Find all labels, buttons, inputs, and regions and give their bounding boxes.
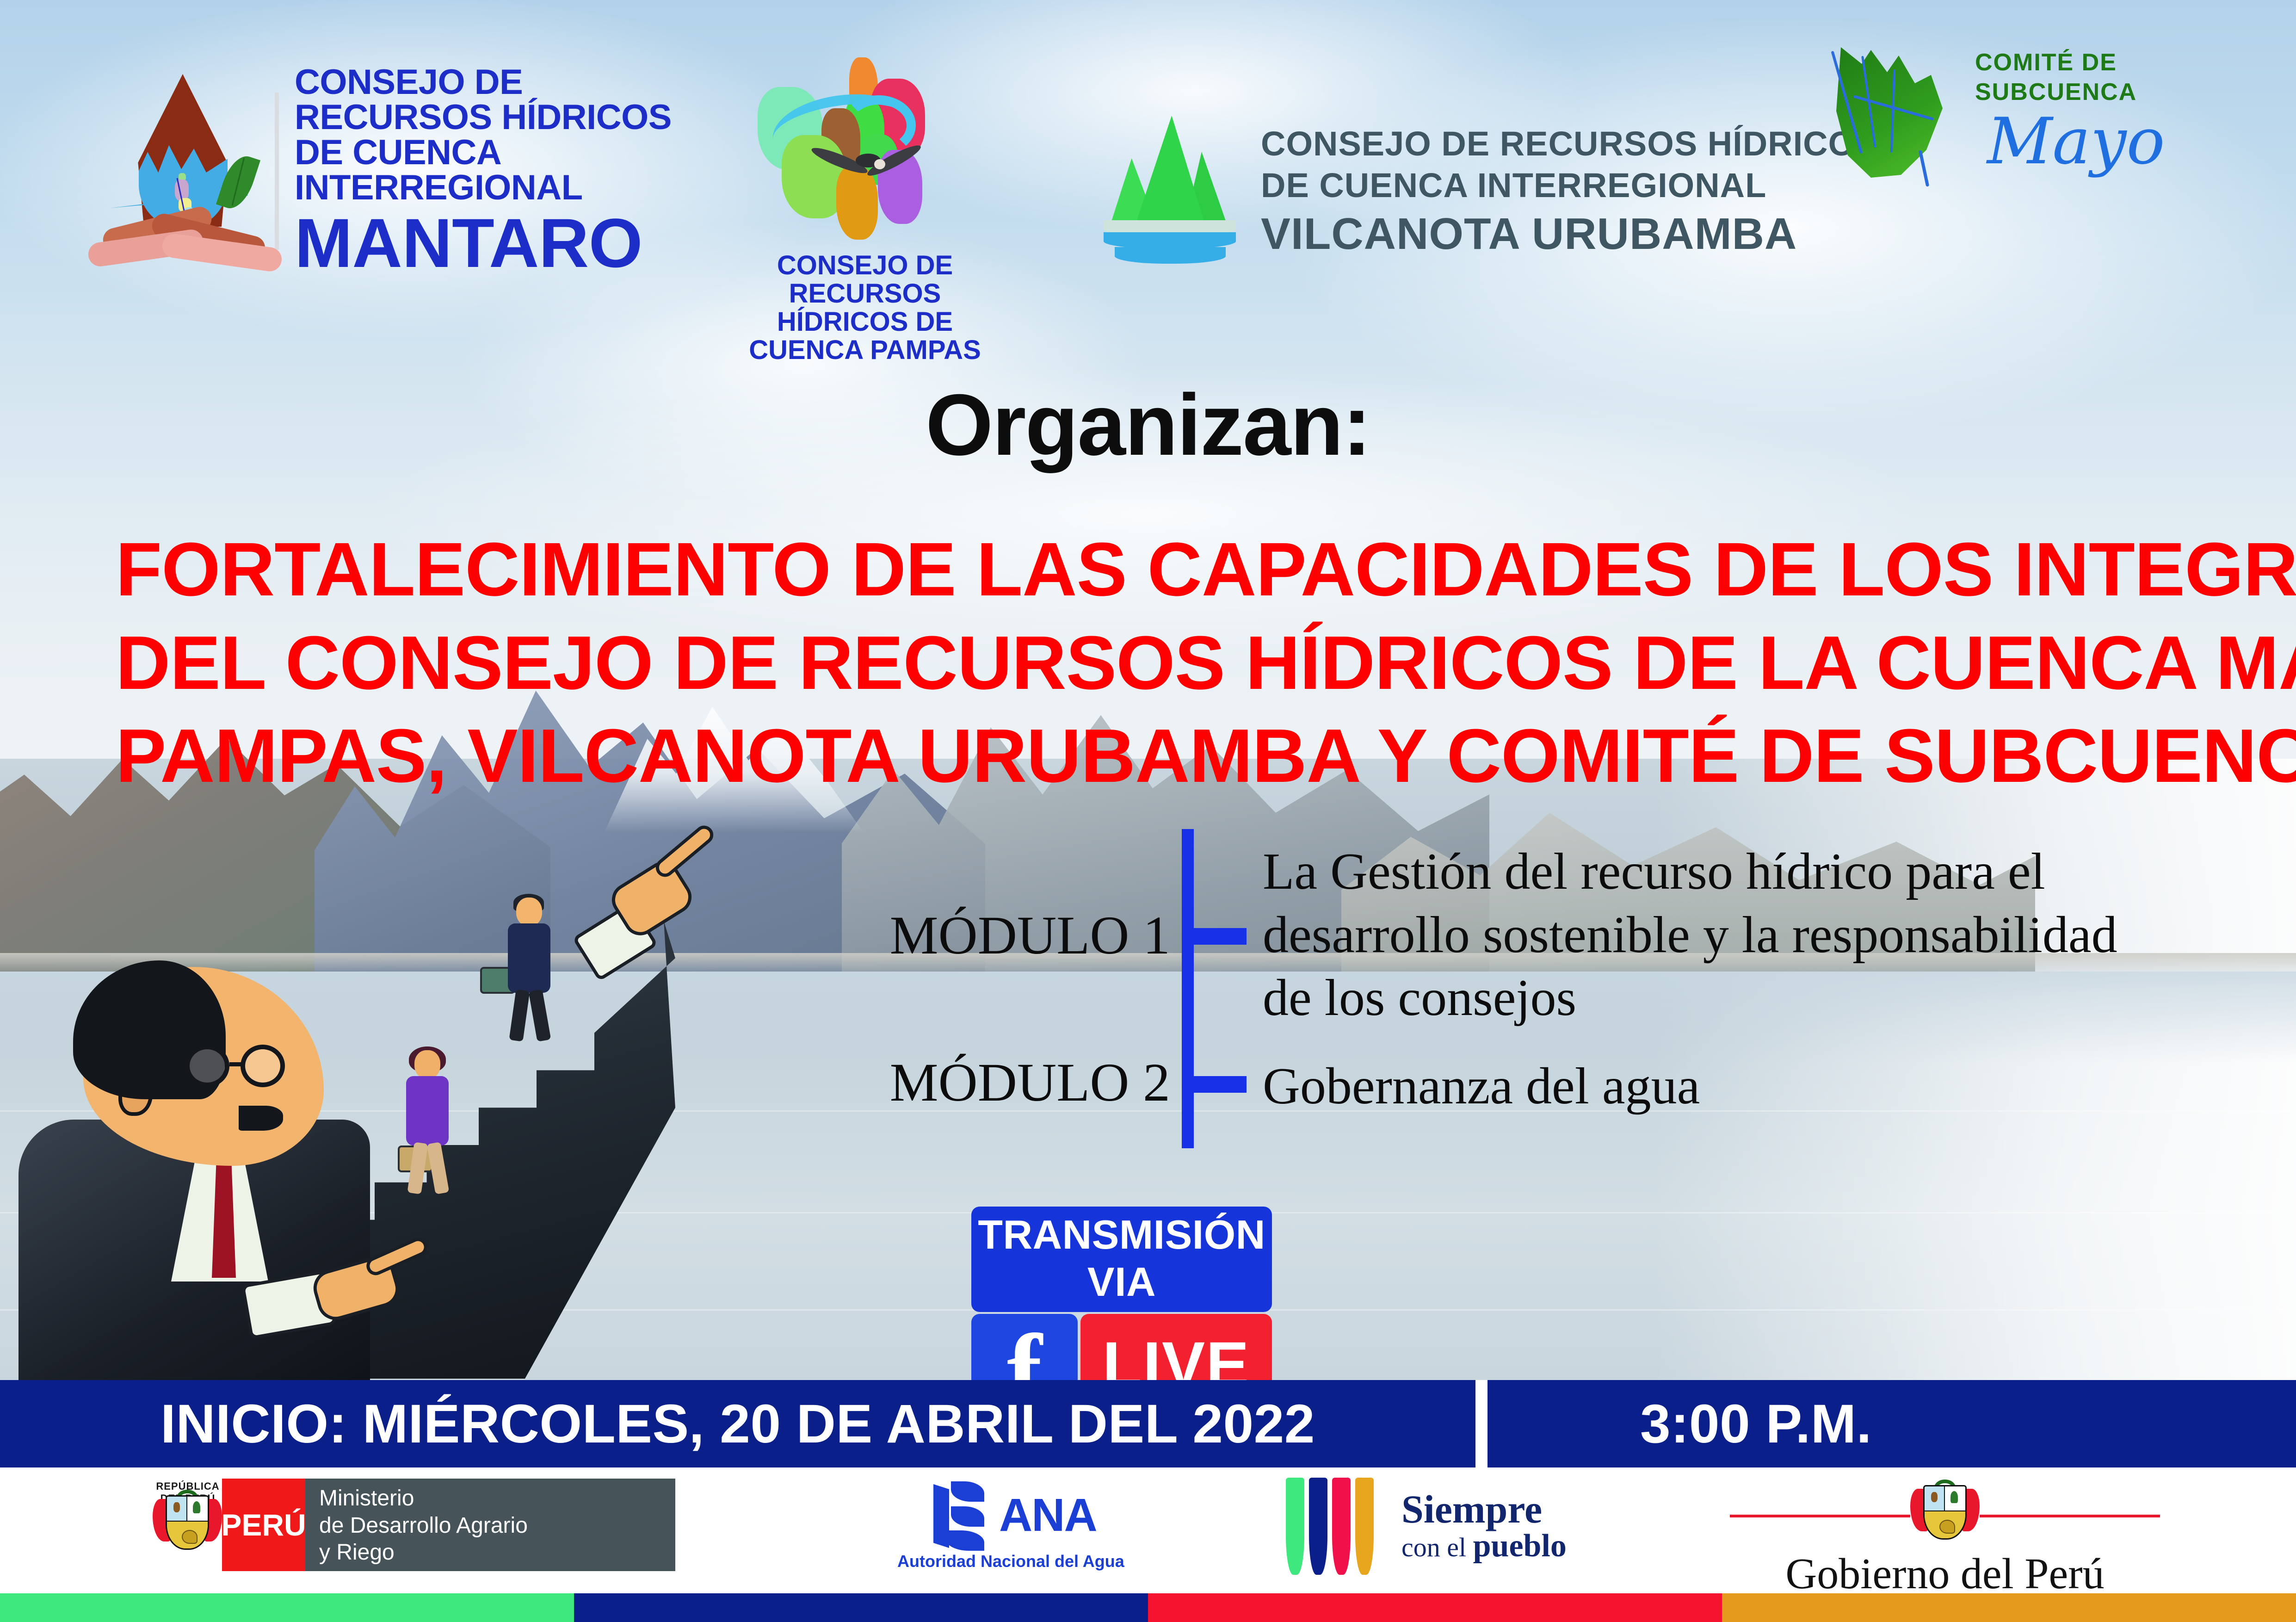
mantaro-name: MANTARO [295,208,672,278]
pampas-line-2: HÍDRICOS DE CUENCA PAMPAS [749,307,981,365]
mayo-line-2: SUBCUENCA [1975,78,2165,107]
ministerio-line-2: de Desarrollo Agrario [319,1512,675,1540]
ana-subtitle: Autoridad Nacional del Agua [897,1552,1124,1571]
module-2-connector [1182,1076,1247,1093]
modules-accent-bar [1182,829,1194,1148]
gobierno-rule-left [1730,1515,1910,1517]
mayo-name: Mayo [1987,104,2165,179]
logo-ana: ANA Autoridad Nacional del Agua [897,1480,1124,1571]
logo-siempre-con-el-pueblo: Siempre con el pueblo [1286,1478,1567,1575]
broadcast-banner-label: TRANSMISIÓN VIA [971,1207,1272,1312]
mayo-leaf-icon [1827,37,1966,190]
siempre-bars-icon [1286,1478,1392,1575]
vilcanota-name: VILCANOTA URUBAMBA [1261,207,1879,261]
logo-mantaro: CONSEJO DE RECURSOS HÍDRICOS DE CUENCA I… [93,65,672,278]
mantaro-wordmark: CONSEJO DE RECURSOS HÍDRICOS DE CUENCA I… [295,65,672,278]
condor-icon [811,133,922,203]
vilcanota-line-2: DE CUENCA INTERREGIONAL [1261,165,1879,206]
poster-canvas: CONSEJO DE RECURSOS HÍDRICOS DE CUENCA I… [0,0,2296,1622]
modules-section: MÓDULO 1 La Gestión del recurso hídrico … [786,823,2155,1157]
schedule-date-bar: INICIO: MIÉRCOLES, 20 DE ABRIL DEL 2022 [0,1380,1475,1467]
pampas-map-icon [754,51,976,250]
siempre-line-2-small: con el [1401,1532,1466,1562]
module-1-label: MÓDULO 1 [786,904,1170,967]
schedule-time-bar: 3:00 P.M. [1487,1380,2296,1467]
strip-green [0,1593,574,1622]
logo-ministerio-desarrollo-agrario: REPÚBLICA DEL PERÚ PERÚ Ministerio de De… [153,1479,675,1571]
schedule-date-text: INICIO: MIÉRCOLES, 20 DE ABRIL DEL 2022 [0,1393,1475,1455]
pointing-arm-upper [580,847,719,976]
mantaro-emblem-icon [93,74,268,268]
mantaro-divider [275,93,279,250]
organizan-label: Organizan: [0,375,2296,475]
strip-red [1148,1593,1722,1622]
mantaro-line-3: DE CUENCA [295,135,672,170]
module-2-description: Gobernanza del agua [1263,1055,2142,1118]
siempre-line-2-bold: pueblo [1473,1528,1567,1564]
siempre-line-1: Siempre [1401,1489,1567,1529]
mantaro-line-1: CONSEJO DE [295,65,672,100]
stairs-illustration [0,759,786,1381]
peru-coat-of-arms-icon [1910,1468,1980,1556]
pointing-arm-lower [245,1244,439,1351]
ministerio-line-1: Ministerio [319,1485,675,1512]
module-1-description: La Gestión del recurso hídrico para el d… [1263,840,2142,1030]
ministerio-name: Ministerio de Desarrollo Agrario y Riego [305,1479,675,1571]
strip-blue [574,1593,1148,1622]
mantaro-line-4: INTERREGIONAL [295,170,672,205]
logo-gobierno-del-peru: Gobierno del Perú [1702,1475,2188,1599]
schedule-time-text: 3:00 P.M. [1487,1393,2296,1455]
ana-flag-icon [925,1480,994,1550]
siempre-wordmark: Siempre con el pueblo [1401,1489,1567,1563]
mayo-line-1: COMITÉ DE [1975,48,2165,77]
mantaro-line-2: RECURSOS HÍDRICOS [295,100,672,135]
vilcanota-wordmark: CONSEJO DE RECURSOS HÍDRICOS DE CUENCA I… [1261,123,1879,261]
vilcanota-mountain-wave-icon [1101,116,1240,268]
ana-acronym: ANA [999,1489,1097,1542]
pampas-line-1: CONSEJO DE RECURSOS [777,250,953,309]
gobierno-name: Gobierno del Perú [1702,1549,2188,1599]
gobierno-rule-right [1980,1515,2160,1517]
ministerio-line-3: y Riego [319,1539,675,1566]
logo-mayo: COMITÉ DE SUBCUENCA Mayo [1827,37,2165,190]
strip-orange [1722,1593,2296,1622]
pampas-wordmark: CONSEJO DE RECURSOS HÍDRICOS DE CUENCA P… [722,252,1008,365]
headline-line-1: FORTALECIMIENTO DE LAS CAPACIDADES DE LO… [116,523,2180,616]
headline-line-2: DEL CONSEJO DE RECURSOS HÍDRICOS DE LA C… [116,616,2180,710]
mayo-wordmark: COMITÉ DE SUBCUENCA Mayo [1975,48,2165,179]
footer-institution-logos: REPÚBLICA DEL PERÚ PERÚ Ministerio de De… [0,1467,2296,1593]
organizer-logo-strip: CONSEJO DE RECURSOS HÍDRICOS DE CUENCA I… [0,0,2296,319]
module-2-label: MÓDULO 2 [786,1051,1170,1114]
module-1-connector [1182,928,1247,945]
peru-label: PERÚ [222,1479,305,1571]
peru-coat-of-arms-icon: REPÚBLICA DEL PERÚ [153,1479,222,1566]
logo-pampas: CONSEJO DE RECURSOS HÍDRICOS DE CUENCA P… [722,51,1008,365]
vilcanota-line-1: CONSEJO DE RECURSOS HÍDRICOS [1261,123,1879,165]
logo-vilcanota-urubamba: CONSEJO DE RECURSOS HÍDRICOS DE CUENCA I… [1101,116,1879,268]
bottom-color-strip [0,1593,2296,1622]
